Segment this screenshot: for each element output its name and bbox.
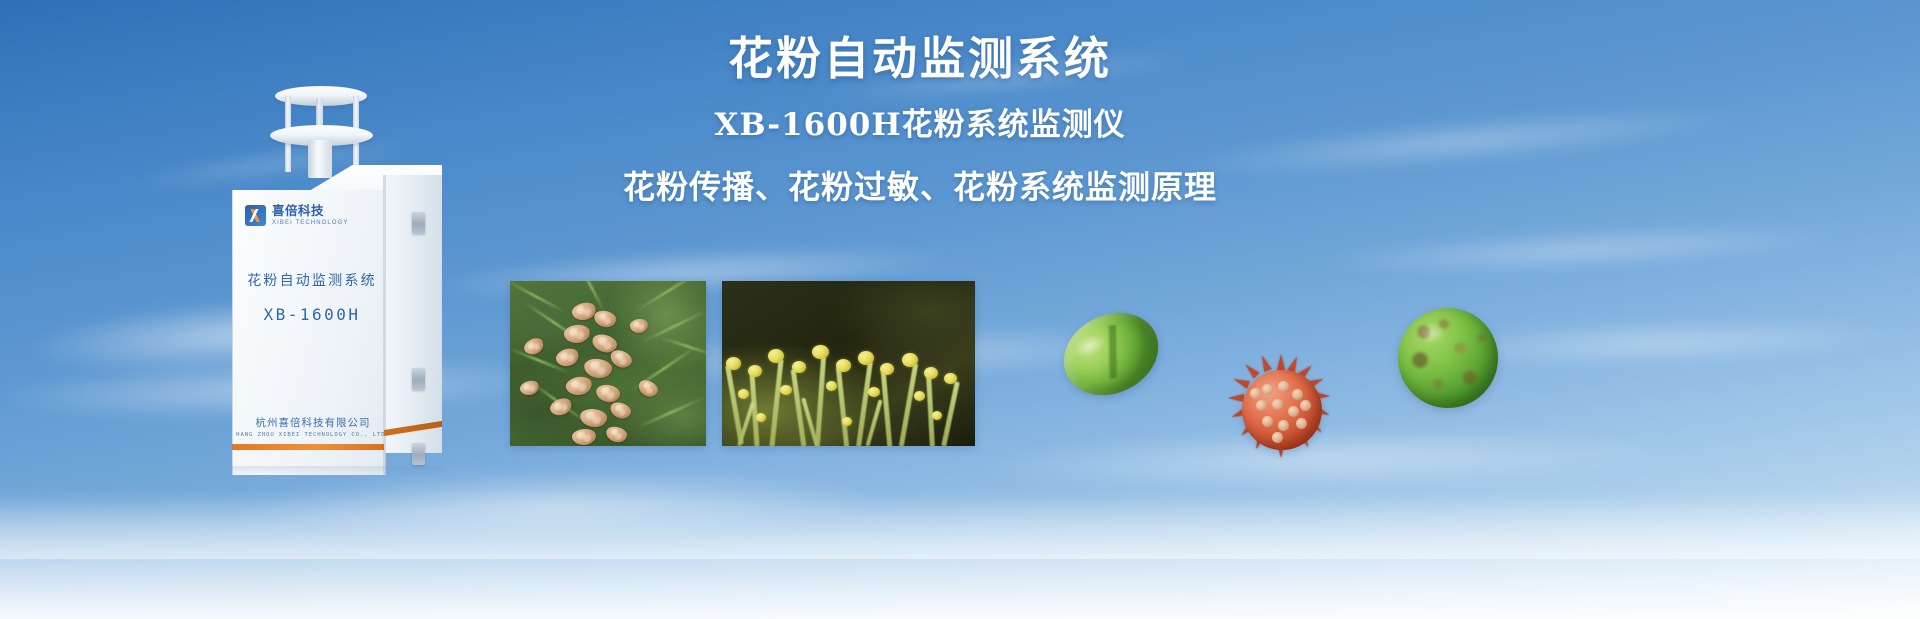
photo-catkin-stamens [722, 281, 975, 446]
cabinet-latch [412, 368, 425, 390]
headline-block: 花粉自动监测系统 XB-1600H花粉系统监测仪 花粉传播、花粉过敏、花粉系统监… [600, 32, 1240, 207]
product-model-line: XB-1600H花粉系统监测仪 [600, 107, 1240, 144]
feature-list-line: 花粉传播、花粉过敏、花粉系统监测原理 [600, 168, 1240, 206]
accent-stripe [232, 444, 384, 450]
pollen-grain-spiky [1228, 356, 1336, 464]
brand-name-en: XIBEI TECHNOLOGY [272, 220, 349, 226]
grain-body [1398, 308, 1498, 408]
device-company-en: HANG ZHOU XIBEI TECHNOLOGY CO., LTD. [234, 432, 392, 438]
photo-cedar-cones [510, 281, 706, 446]
brand-logo-text: 喜倍科技 XIBEI TECHNOLOGY [272, 205, 349, 226]
brand-name-cn: 喜倍科技 [272, 205, 349, 218]
sampler-inlet-neck [308, 140, 332, 178]
device-company-cn: 杭州喜倍科技有限公司 [238, 415, 388, 430]
pollen-grain-ellipsoid [1050, 297, 1172, 410]
pollen-grain-mottled [1398, 308, 1498, 408]
brand-logo: 喜倍科技 XIBEI TECHNOLOGY [245, 205, 349, 226]
cabinet-base-shadow [232, 466, 442, 476]
cloud-streak [239, 464, 880, 545]
grain-highlight [1416, 322, 1446, 344]
xibei-logo-mark-icon [245, 205, 266, 226]
pollen-monitoring-banner: 花粉自动监测系统 XB-1600H花粉系统监测仪 花粉传播、花粉过敏、花粉系统监… [0, 0, 1920, 619]
horizon-haze [0, 489, 1920, 619]
device-model-label: XB-1600H [242, 305, 382, 324]
cabinet-latch [412, 443, 425, 465]
page-title: 花粉自动监测系统 [600, 32, 1240, 85]
cabinet-latch [412, 212, 425, 234]
pollen-monitoring-instrument: 喜倍科技 XIBEI TECHNOLOGY 花粉自动监测系统 XB-1600H … [190, 80, 460, 430]
device-product-label: 花粉自动监测系统 [242, 270, 382, 290]
horizon-haze [0, 499, 1920, 559]
cloud-streak [1179, 96, 1741, 189]
cloud-streak [1319, 216, 1840, 283]
